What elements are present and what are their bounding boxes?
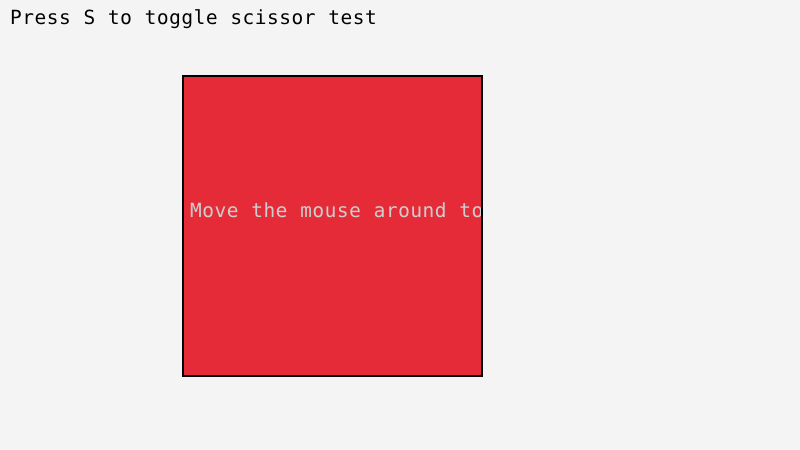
app-window: Press S to toggle scissor test Move the … (0, 0, 800, 450)
scissor-test-region[interactable]: Move the mouse around to reveal this tex… (182, 75, 483, 377)
clipped-message-text: Move the mouse around to reveal this tex… (190, 200, 483, 222)
scissor-toggle-hint: Press S to toggle scissor test (10, 7, 377, 29)
